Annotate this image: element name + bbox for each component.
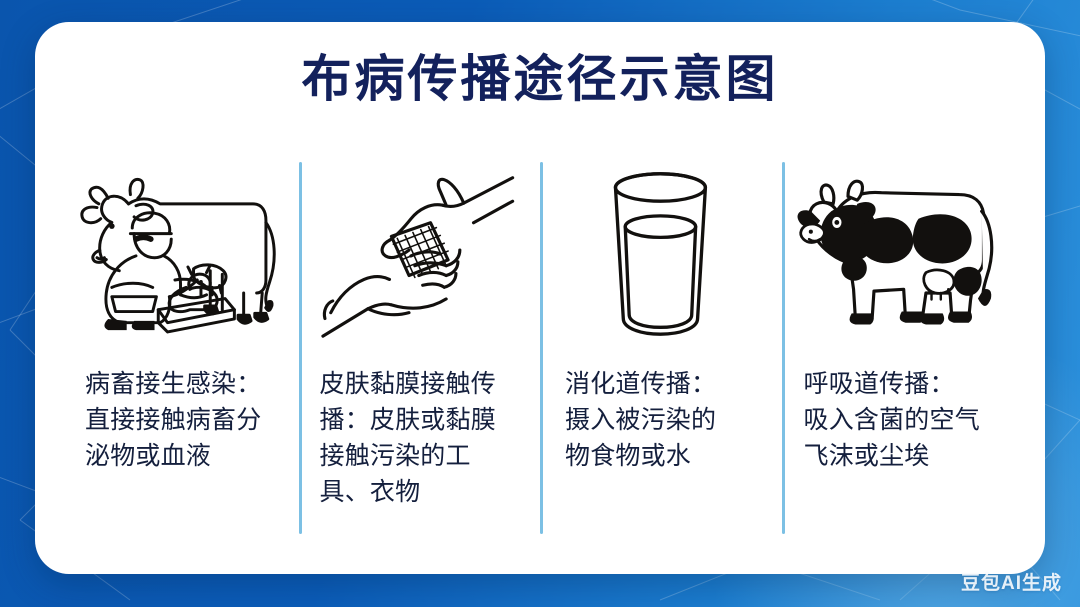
route-column-respiratory-tract: 呼吸道传播： 吸入含菌的空气 飞沫或尘埃 [782, 150, 1024, 556]
holstein-dairy-cow-icon [796, 166, 1010, 342]
route-caption: 呼吸道传播： 吸入含菌的空气 飞沫或尘埃 [788, 366, 1018, 474]
glass-of-milk-icon [554, 166, 768, 342]
transmission-route-columns: 病畜接生感染： 直接接触病畜分 泌物或血液 [57, 150, 1023, 556]
route-caption: 病畜接生感染： 直接接触病畜分 泌物或血液 [57, 366, 299, 474]
route-column-skin-mucosa-contact: 皮肤黏膜接触传 播：皮肤或黏膜 接触污染的工 具、衣物 [299, 150, 541, 556]
poster-root: 布病传播途径示意图 [0, 0, 1080, 607]
farmer-assisting-cow-birth-icon [71, 166, 285, 342]
content-card: 布病传播途径示意图 [35, 22, 1045, 574]
route-caption: 消化道传播： 摄入被污染的 物食物或水 [543, 366, 779, 474]
hands-passing-contaminated-cloth-icon [313, 166, 527, 342]
route-caption: 皮肤黏膜接触传 播：皮肤或黏膜 接触污染的工 具、衣物 [306, 366, 534, 510]
route-column-digestive-tract: 消化道传播： 摄入被污染的 物食物或水 [540, 150, 782, 556]
route-column-birth-contact: 病畜接生感染： 直接接触病畜分 泌物或血液 [57, 150, 299, 556]
page-title: 布病传播途径示意图 [35, 50, 1045, 109]
